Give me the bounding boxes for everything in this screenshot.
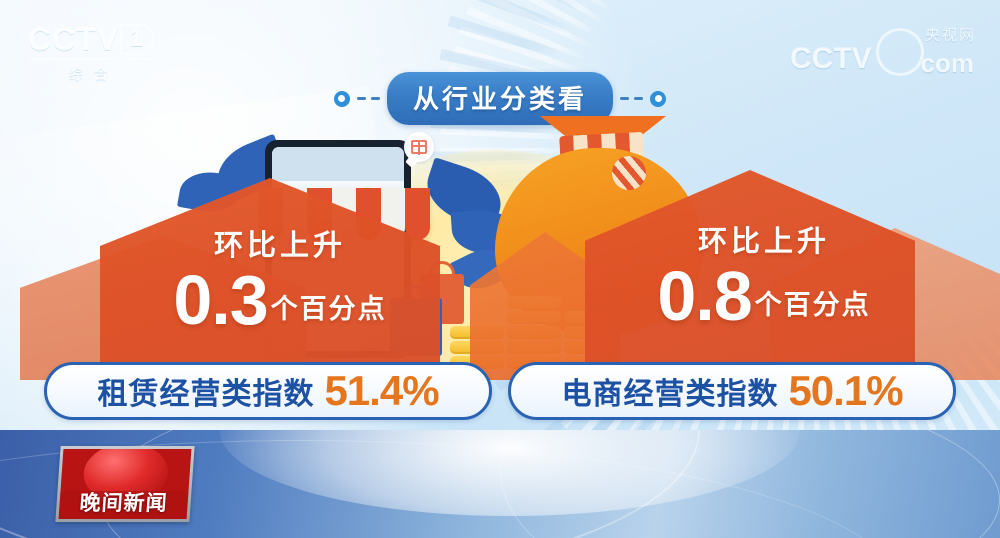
change-unit: 个百分点 <box>755 283 871 328</box>
broadcast-graphic: CCTV 1 综合 央视网 CCTV com 从行业分类看 <box>0 0 1000 538</box>
lower-third-banner: 晚间新闻 <box>0 430 1000 538</box>
logo-divider <box>28 58 158 60</box>
watermark-chinese: 央视网 <box>925 24 976 45</box>
index-value: 51.4% <box>324 371 438 411</box>
gift-bubble-icon <box>404 132 434 162</box>
program-name: 晚间新闻 <box>59 487 189 517</box>
index-bar-row: 租赁经营类指数 51.4% 电商经营类指数 50.1% <box>0 362 1000 420</box>
index-bar-ecommerce: 电商经营类指数 50.1% <box>508 362 956 420</box>
watermark-ring-icon <box>876 28 924 76</box>
cctv-wordmark: CCTV <box>28 22 119 56</box>
gift-box-icon <box>411 140 427 154</box>
watermark-cctv: CCTV <box>790 42 872 76</box>
change-label: 环比上升 <box>150 222 410 264</box>
change-label: 环比上升 <box>638 218 890 260</box>
index-label: 租赁经营类指数 <box>97 369 314 413</box>
decorative-dot-left-icon <box>334 91 350 107</box>
stat-block-ecommerce: 环比上升 0.8 个百分点 <box>638 218 890 328</box>
change-value: 0.8 <box>657 264 751 328</box>
index-bar-leasing: 租赁经营类指数 51.4% <box>44 362 492 420</box>
decorative-dot-right-icon <box>650 91 666 107</box>
change-value: 0.3 <box>173 268 267 332</box>
stat-block-leasing: 环比上升 0.3 个百分点 <box>150 222 410 332</box>
change-unit: 个百分点 <box>271 287 387 332</box>
dashed-line-right <box>620 97 643 100</box>
index-label: 电商经营类指数 <box>561 369 778 413</box>
channel-number: 1 <box>120 24 154 55</box>
index-value: 50.1% <box>788 371 902 411</box>
program-logo: 晚间新闻 <box>55 446 194 522</box>
dashed-line-left <box>357 97 380 100</box>
